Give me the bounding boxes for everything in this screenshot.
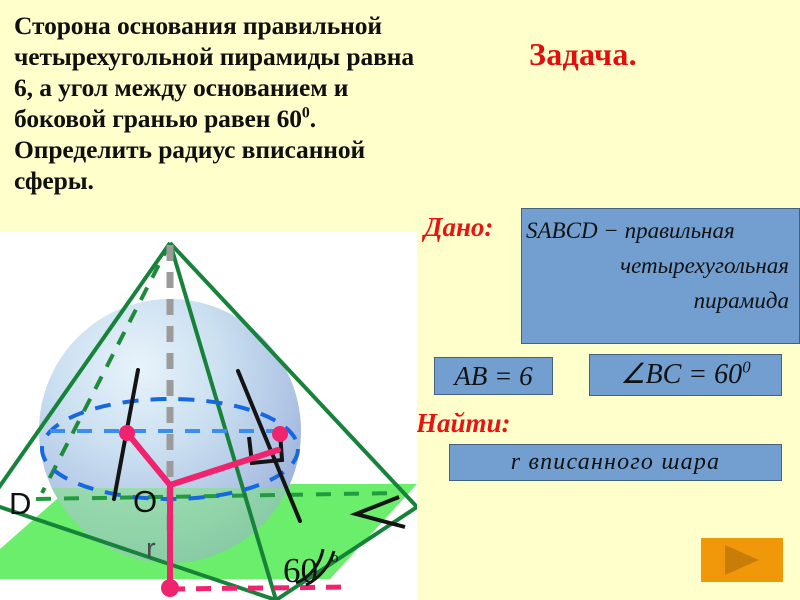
slide-root: Сторона основания правильной четырехугол… (0, 0, 800, 600)
label-vertex-d: D (9, 486, 31, 521)
problem-line-4: боковой гранью равен 600. (14, 103, 514, 134)
problem-statement: Сторона основания правильной четырехугол… (14, 10, 514, 196)
equation-angle-degree: 0 (742, 358, 750, 377)
given-label: Дано: (424, 212, 493, 243)
task-title: Задача. (529, 36, 637, 73)
problem-line-4-text: боковой гранью равен 60 (14, 104, 302, 133)
given-statement-box: SABCD − правильная четырехугольная пирам… (521, 208, 800, 344)
equation-side-length: AB = 6 (434, 357, 553, 395)
problem-line-3: 6, а угол между основанием и (14, 72, 514, 103)
find-label: Найти: (416, 408, 511, 439)
problem-line-5: Определить радиус вписанной (14, 134, 514, 165)
problem-line-4-period: . (310, 104, 316, 133)
geometry-diagram: D O r 60 o (0, 231, 417, 600)
find-statement-box: r вписанного шара (449, 444, 782, 481)
given-line-2: четырехугольная (526, 248, 789, 283)
given-line-1: SABCD − правильная (526, 213, 789, 248)
equation-angle-text: ∠BC = 60 (620, 359, 742, 390)
given-line-3: пирамида (526, 283, 789, 318)
radius-dashed-base (170, 587, 352, 589)
equation-angle: ∠BC = 600 (589, 354, 782, 396)
problem-degree-symbol: 0 (302, 105, 310, 122)
problem-line-1: Сторона основания правильной (14, 10, 514, 41)
problem-line-2: четырехугольной пирамиды равна (14, 41, 514, 72)
label-center-o: O (133, 484, 157, 519)
play-triangle-icon (725, 545, 759, 575)
problem-line-6: сферы. (14, 165, 514, 196)
label-radius-r: r (146, 533, 156, 565)
play-next-button[interactable] (701, 538, 783, 582)
